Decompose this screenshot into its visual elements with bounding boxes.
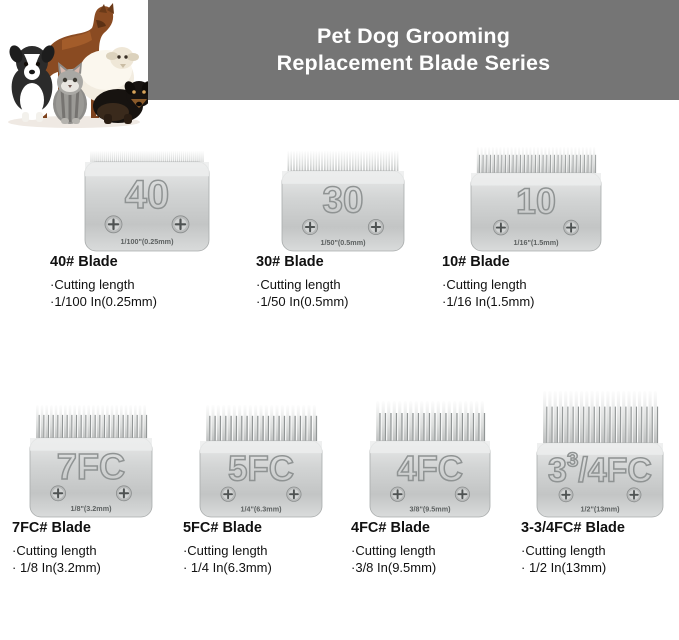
blade-caption-title: 3-3/4FC# Blade	[521, 520, 679, 536]
blade-screw	[105, 216, 122, 233]
blade-face-number: 33/4FC	[548, 450, 652, 490]
blade-row-1: 401/100"(0.25mm)40# Blade·Cutting length…	[0, 136, 679, 376]
blade-image-4FC: 4FC3/8"(9.5mm)	[367, 386, 493, 520]
blade-illustration: 101/16"(1.5mm)	[468, 144, 604, 254]
blade-face-number: 40	[125, 173, 170, 217]
blade-engraved-size: 1/4"(6.3mm)	[241, 504, 283, 513]
blade-engraved-size: 1/100"(0.25mm)	[121, 237, 175, 246]
blade-caption-title: 4FC# Blade	[351, 520, 515, 536]
blade-screw	[221, 487, 235, 501]
blade-caption-title: 40# Blade	[50, 254, 250, 270]
page-header: Pet Dog Grooming Replacement Blade Serie…	[0, 0, 679, 128]
blade-face-number: 10	[516, 182, 556, 222]
blade-screw	[51, 486, 66, 501]
blade-caption-title: 10# Blade	[442, 254, 636, 270]
blade-caption-title: 7FC# Blade	[12, 520, 177, 536]
blade-screw	[287, 487, 301, 501]
animal-photo-illustration	[0, 0, 148, 128]
blade-cutting-length-label: ·Cutting length	[12, 542, 177, 559]
blade-cutting-length-label: ·Cutting length	[183, 542, 345, 559]
blade-screw	[494, 220, 509, 235]
blade-caption: 4FC# Blade·Cutting length·3/8 In(9.5mm)	[345, 520, 515, 576]
blade-caption: 3-3/4FC# Blade·Cutting length· 1/2 In(13…	[515, 520, 679, 576]
blade-engraved-size: 1/2"(13mm)	[581, 505, 621, 514]
blade-screw	[559, 488, 573, 502]
blade-illustration: 401/100"(0.25mm)	[82, 148, 212, 254]
blade-cutting-length-label: ·Cutting length	[351, 542, 515, 559]
blade-card: 301/50"(0.5mm)30# Blade·Cutting length·1…	[250, 136, 436, 376]
blade-screw	[455, 487, 469, 501]
blade-image-30: 301/50"(0.5mm)	[279, 136, 407, 254]
title-banner: Pet Dog Grooming Replacement Blade Serie…	[148, 0, 679, 100]
blade-cutting-length-value: ·1/50 In(0.5mm)	[256, 293, 436, 310]
blade-card: 101/16"(1.5mm)10# Blade·Cutting length·1…	[436, 136, 636, 376]
blade-image-40: 401/100"(0.25mm)	[82, 136, 212, 254]
blade-cutting-length-value: ·3/8 In(9.5mm)	[351, 559, 515, 576]
blade-illustration: 301/50"(0.5mm)	[279, 148, 407, 254]
blade-screw	[627, 488, 641, 502]
blade-face-number: 7FC	[57, 446, 126, 487]
blade-caption: 5FC# Blade·Cutting length· 1/4 In(6.3mm)	[177, 520, 345, 576]
blade-caption: 10# Blade·Cutting length·1/16 In(1.5mm)	[436, 254, 636, 310]
blade-card: 33/4FC1/2"(13mm)3-3/4FC# Blade·Cutting l…	[515, 386, 679, 606]
comb-teeth	[206, 405, 317, 445]
blade-illustration: 33/4FC1/2"(13mm)	[534, 388, 666, 520]
blade-caption: 7FC# Blade·Cutting length· 1/8 In(3.2mm)	[6, 520, 177, 576]
blade-engraved-size: 1/16"(1.5mm)	[514, 238, 560, 247]
comb-teeth	[477, 147, 596, 177]
blade-engraved-size: 1/8"(3.2mm)	[71, 504, 113, 513]
blade-card: 4FC3/8"(9.5mm)4FC# Blade·Cutting length·…	[345, 386, 515, 606]
blade-card: 401/100"(0.25mm)40# Blade·Cutting length…	[44, 136, 250, 376]
blade-screw	[117, 486, 132, 501]
blade-illustration: 7FC1/8"(3.2mm)	[27, 402, 155, 520]
blade-card: 5FC1/4"(6.3mm)5FC# Blade·Cutting length·…	[177, 386, 345, 606]
blade-screw	[303, 219, 318, 234]
blade-screw	[564, 220, 579, 235]
blade-cutting-length-label: ·Cutting length	[256, 276, 436, 293]
blade-caption: 40# Blade·Cutting length·1/100 In(0.25mm…	[44, 254, 250, 310]
title-line-2: Replacement Blade Series	[277, 50, 551, 77]
blade-image-34FC: 33/4FC1/2"(13mm)	[534, 386, 666, 520]
blade-image-10: 101/16"(1.5mm)	[468, 136, 604, 254]
blade-face-number: 30	[323, 180, 364, 221]
blade-illustration: 5FC1/4"(6.3mm)	[197, 402, 325, 520]
blade-caption: 30# Blade·Cutting length·1/50 In(0.5mm)	[250, 254, 436, 310]
blade-engraved-size: 3/8"(9.5mm)	[410, 504, 452, 513]
blade-cutting-length-label: ·Cutting length	[521, 542, 679, 559]
blade-screw	[172, 216, 189, 233]
blade-cutting-length-value: · 1/4 In(6.3mm)	[183, 559, 345, 576]
blade-card: 7FC1/8"(3.2mm)7FC# Blade·Cutting length·…	[6, 386, 177, 606]
blade-caption-title: 5FC# Blade	[183, 520, 345, 536]
comb-teeth	[37, 405, 148, 442]
blade-cutting-length-value: · 1/8 In(3.2mm)	[12, 559, 177, 576]
blade-cutting-length-value: · 1/2 In(13mm)	[521, 559, 679, 576]
blade-screw	[368, 219, 383, 234]
blade-cutting-length-value: ·1/100 In(0.25mm)	[50, 293, 250, 310]
title-line-1: Pet Dog Grooming	[317, 23, 510, 50]
blade-cutting-length-label: ·Cutting length	[442, 276, 636, 293]
blade-caption-title: 30# Blade	[256, 254, 436, 270]
blade-cutting-length-label: ·Cutting length	[50, 276, 250, 293]
animal-group-photo	[0, 0, 148, 128]
blade-illustration: 4FC3/8"(9.5mm)	[367, 398, 493, 520]
blade-engraved-size: 1/50"(0.5mm)	[321, 238, 367, 247]
comb-teeth	[376, 401, 485, 445]
blade-image-5FC: 5FC1/4"(6.3mm)	[197, 386, 325, 520]
comb-teeth	[543, 391, 658, 447]
blade-screw	[390, 487, 404, 501]
blade-face-number: 5FC	[228, 450, 294, 489]
blade-image-7FC: 7FC1/8"(3.2mm)	[27, 386, 155, 520]
blade-face-number: 4FC	[397, 450, 463, 489]
blade-row-2: 7FC1/8"(3.2mm)7FC# Blade·Cutting length·…	[0, 386, 679, 606]
blade-cutting-length-value: ·1/16 In(1.5mm)	[442, 293, 636, 310]
